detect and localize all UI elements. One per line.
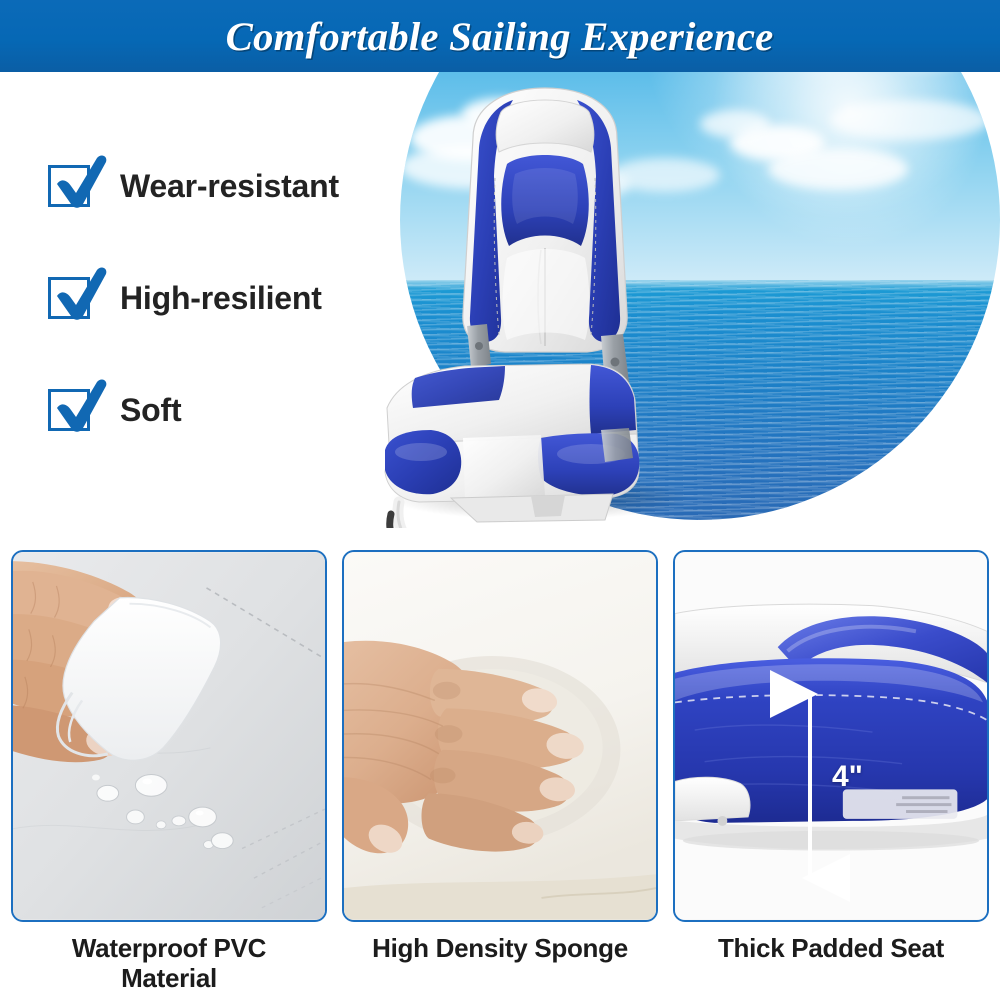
panel-image-high-density-sponge [342, 550, 658, 922]
panel-caption: High Density Sponge [342, 934, 658, 964]
cloud-icon [830, 100, 990, 140]
panel-caption-line: Waterproof PVC [11, 934, 327, 964]
feature-panel: Waterproof PVC Material [11, 550, 327, 994]
panel-caption-line: Material [11, 964, 327, 994]
checkbox-checked-icon[interactable] [48, 165, 90, 207]
feature-item: Soft [48, 354, 378, 466]
feature-label: Wear-resistant [120, 168, 339, 205]
feature-panel: 4" Thick Padded Seat [673, 550, 989, 994]
feature-panel-row: Waterproof PVC Material [11, 550, 989, 994]
feature-label: Soft [120, 392, 181, 429]
cloud-icon [768, 148, 908, 190]
checkbox-checked-icon[interactable] [48, 389, 90, 431]
panel-caption: Waterproof PVC Material [11, 934, 327, 994]
checkbox-checked-icon[interactable] [48, 277, 90, 319]
product-feature-page: Comfortable Sailing Experience [0, 0, 1000, 1000]
header-banner: Comfortable Sailing Experience [0, 0, 1000, 72]
feature-item: Wear-resistant [48, 130, 378, 242]
feature-item: High-resilient [48, 242, 378, 354]
boat-seat-product-image [355, 78, 735, 528]
feature-list: Wear-resistant High-resilient Soft [48, 130, 378, 466]
panel-caption: Thick Padded Seat [673, 934, 989, 964]
page-title: Comfortable Sailing Experience [226, 13, 774, 60]
feature-panel: High Density Sponge [342, 550, 658, 994]
panel-caption-line: Thick Padded Seat [673, 934, 989, 964]
panel-caption-line: High Density Sponge [342, 934, 658, 964]
feature-label: High-resilient [120, 280, 322, 317]
panel-image-thick-padded-seat: 4" [673, 550, 989, 922]
panel-image-waterproof-pvc [11, 550, 327, 922]
